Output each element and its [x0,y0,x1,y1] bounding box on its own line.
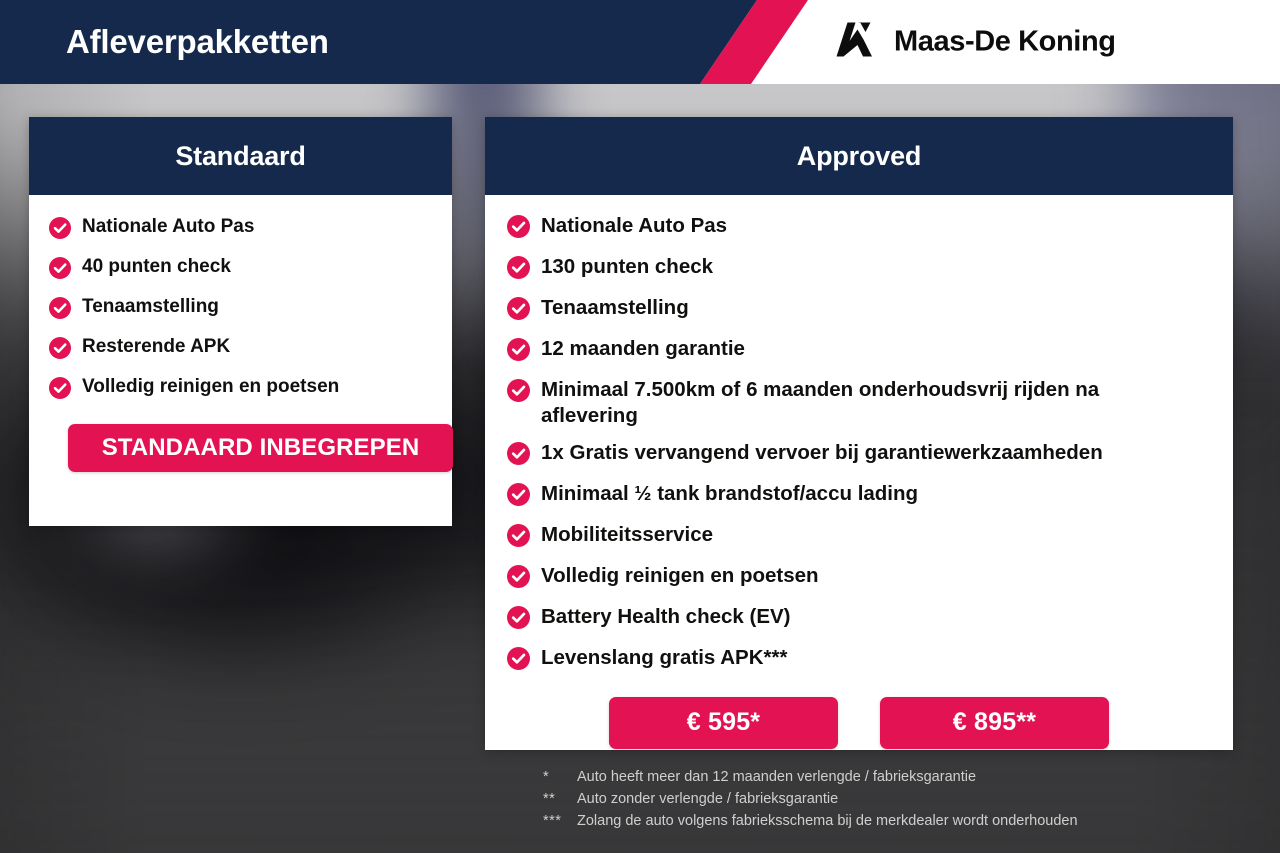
list-item: Volledig reinigen en poetsen [507,563,1211,593]
standaard-inbegrepen-button[interactable]: STANDAARD INBEGREPEN [68,424,453,472]
check-circle-icon [49,297,71,324]
package-card-standaard: Standaard Nationale Auto Pas [29,117,452,526]
feature-label: Nationale Auto Pas [82,215,254,239]
check-circle-icon [507,379,530,407]
footnote-text: Zolang de auto volgens fabrieksschema bi… [577,810,1078,832]
package-body-standaard: Nationale Auto Pas 40 punten check [29,195,452,472]
feature-list-approved: Nationale Auto Pas 130 punten check [507,213,1211,675]
price-button-row: € 595* € 895** [507,697,1211,749]
footnote-marker: ** [543,788,577,810]
feature-label: Minimaal 7.500km of 6 maanden onderhouds… [541,377,1141,429]
check-circle-icon [507,338,530,366]
check-circle-icon [507,606,530,634]
check-circle-icon [507,647,530,675]
feature-label: Tenaamstelling [541,295,689,321]
feature-label: Volledig reinigen en poetsen [541,563,819,589]
footnote-text: Auto heeft meer dan 12 maanden verlengde… [577,766,976,788]
page-title: Afleverpakketten [66,23,329,61]
list-item: Mobiliteitsservice [507,522,1211,552]
check-circle-icon [49,217,71,244]
list-item: Minimaal 7.500km of 6 maanden onderhouds… [507,377,1211,429]
list-item: 40 punten check [49,255,432,284]
list-item: Nationale Auto Pas [49,215,432,244]
footnote-marker: * [543,766,577,788]
feature-label: Battery Health check (EV) [541,604,791,630]
brand-logo: Maas-De Koning [836,22,1116,63]
check-circle-icon [507,297,530,325]
check-circle-icon [507,215,530,243]
footnote-1: * Auto heeft meer dan 12 maanden verleng… [543,766,1078,788]
feature-label: 130 punten check [541,254,713,280]
check-circle-icon [507,442,530,470]
feature-label: Mobiliteitsservice [541,522,713,548]
list-item: 12 maanden garantie [507,336,1211,366]
list-item: Nationale Auto Pas [507,213,1211,243]
feature-list-standaard: Nationale Auto Pas 40 punten check [49,215,432,404]
footnotes: * Auto heeft meer dan 12 maanden verleng… [543,766,1078,832]
brand-name: Maas-De Koning [894,26,1116,59]
list-item: Minimaal ½ tank brandstof/accu lading [507,481,1211,511]
check-circle-icon [507,524,530,552]
list-item: Battery Health check (EV) [507,604,1211,634]
check-circle-icon [507,483,530,511]
check-circle-icon [507,256,530,284]
package-header-standaard: Standaard [29,117,452,195]
check-circle-icon [49,337,71,364]
check-circle-icon [49,377,71,404]
list-item: Volledig reinigen en poetsen [49,375,432,404]
feature-label: Resterende APK [82,335,230,359]
footnote-marker: *** [543,810,577,832]
package-body-approved: Nationale Auto Pas 130 punten check [485,195,1233,749]
feature-label: Levenslang gratis APK*** [541,645,787,671]
feature-label: 1x Gratis vervangend vervoer bij garanti… [541,440,1103,466]
package-title: Standaard [175,141,305,172]
list-item: Resterende APK [49,335,432,364]
check-circle-icon [49,257,71,284]
feature-label: Nationale Auto Pas [541,213,727,239]
maas-de-koning-m-mark-icon [836,22,880,63]
list-item: 1x Gratis vervangend vervoer bij garanti… [507,440,1211,470]
package-card-approved: Approved Nationale Auto Pas [485,117,1233,750]
check-circle-icon [507,565,530,593]
feature-label: 40 punten check [82,255,231,279]
price-button-595[interactable]: € 595* [609,697,838,749]
list-item: Tenaamstelling [49,295,432,324]
page-header: Afleverpakketten Maas-De Koning [0,0,1280,84]
feature-label: Volledig reinigen en poetsen [82,375,339,399]
feature-label: Tenaamstelling [82,295,219,319]
list-item: Levenslang gratis APK*** [507,645,1211,675]
list-item: 130 punten check [507,254,1211,284]
price-button-895[interactable]: € 895** [880,697,1109,749]
footnote-text: Auto zonder verlengde / fabrieksgarantie [577,788,838,810]
list-item: Tenaamstelling [507,295,1211,325]
footnote-3: *** Zolang de auto volgens fabrieksschem… [543,810,1078,832]
feature-label: 12 maanden garantie [541,336,745,362]
package-header-approved: Approved [485,117,1233,195]
package-title: Approved [797,141,921,172]
afleverpakketten-page: Afleverpakketten Maas-De Koning Standaar… [0,0,1280,853]
feature-label: Minimaal ½ tank brandstof/accu lading [541,481,918,507]
footnote-2: ** Auto zonder verlengde / fabrieksgaran… [543,788,1078,810]
